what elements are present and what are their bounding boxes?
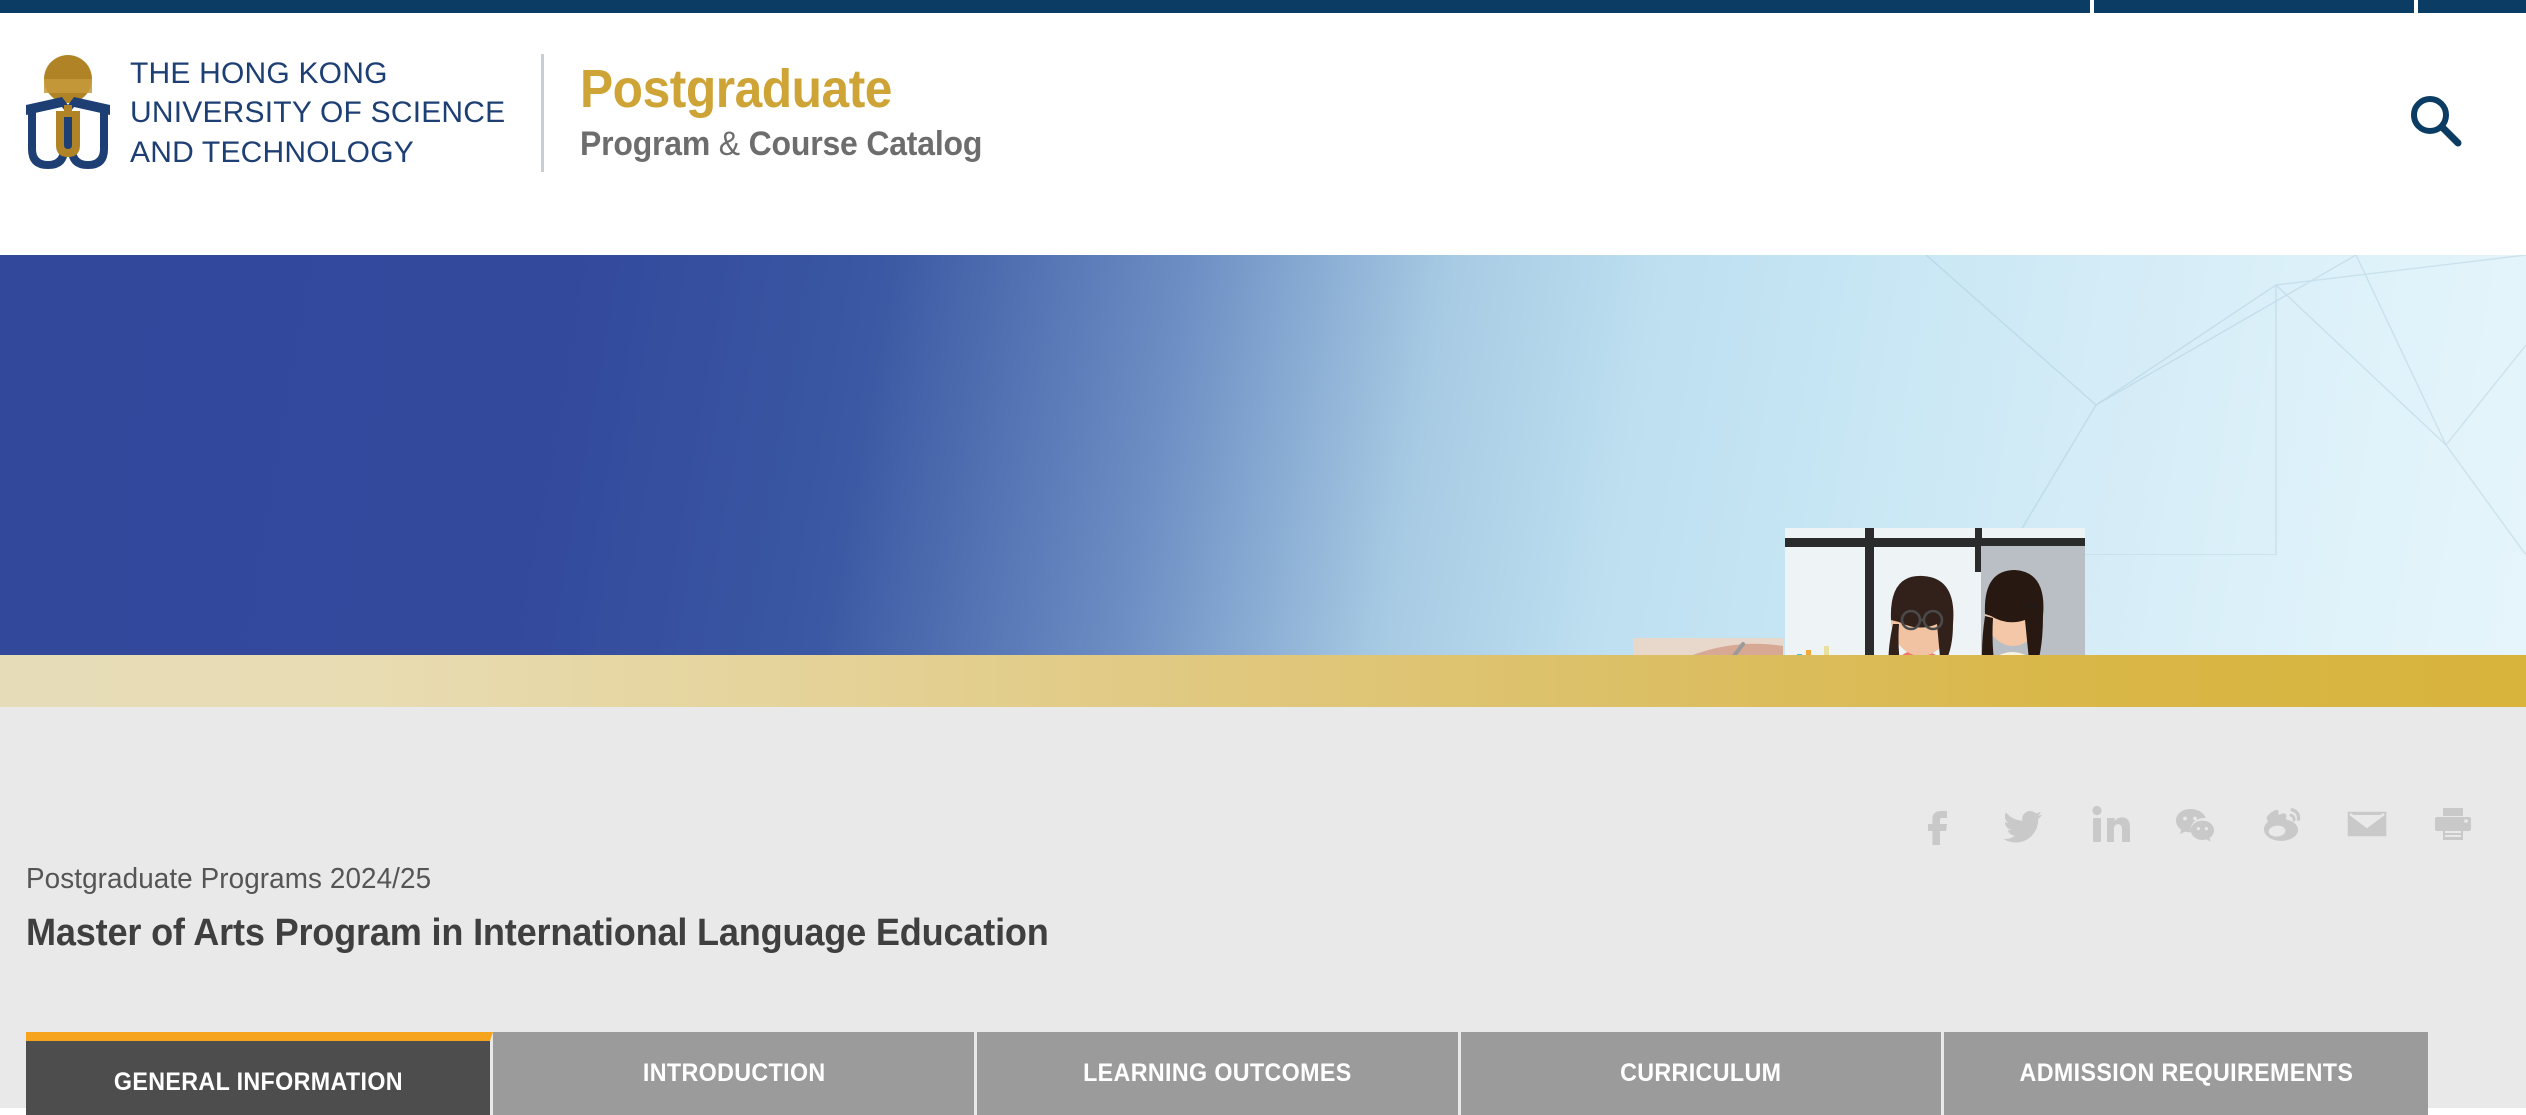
tab-introduction[interactable]: INTRODUCTION (493, 1032, 977, 1115)
page-title: Master of Arts Program in International … (26, 912, 1049, 955)
tab-label: GENERAL INFORMATION (114, 1068, 403, 1097)
gold-accent-bar (0, 655, 2526, 707)
catalog-subtitle-part-a: Program (580, 125, 719, 163)
facebook-icon[interactable] (1916, 803, 1958, 845)
breadcrumb: Postgraduate Programs 2024/25 (26, 863, 431, 896)
page-content: Postgraduate Programs 2024/25 Master of … (0, 707, 2526, 1108)
linkedin-icon[interactable] (2088, 803, 2130, 845)
twitter-icon[interactable] (2002, 803, 2044, 845)
tab-bar: GENERAL INFORMATIONINTRODUCTIONLEARNING … (26, 1032, 2428, 1115)
print-icon[interactable] (2432, 803, 2474, 845)
tab-learning-outcomes[interactable]: LEARNING OUTCOMES (977, 1032, 1461, 1115)
search-icon[interactable] (2406, 91, 2464, 149)
catalog-title-primary: Postgraduate (580, 61, 974, 118)
hero-banner: Programs Courses (0, 255, 2526, 655)
top-navy-bar (0, 0, 2526, 13)
weibo-icon[interactable] (2260, 803, 2302, 845)
university-name: THE HONG KONG UNIVERSITY OF SCIENCE AND … (130, 54, 505, 173)
tab-label: INTRODUCTION (642, 1059, 825, 1088)
site-header: THE HONG KONG UNIVERSITY OF SCIENCE AND … (0, 13, 2526, 255)
tab-general-information[interactable]: GENERAL INFORMATION (26, 1032, 493, 1115)
network-decoration (1886, 255, 2526, 555)
collage-photo-writing (1633, 638, 1783, 655)
catalog-title: Postgraduate Program & Course Catalog (580, 61, 1008, 164)
social-share-row (1916, 803, 2474, 845)
header-divider (541, 54, 544, 172)
catalog-subtitle-ampersand: & (719, 125, 740, 163)
wechat-icon[interactable] (2174, 803, 2216, 845)
topbar-separator (2414, 0, 2418, 13)
tab-curriculum[interactable]: CURRICULUM (1461, 1032, 1945, 1115)
collage-photo-two-students (1785, 528, 2085, 655)
tab-admission-requirements[interactable]: ADMISSION REQUIREMENTS (1944, 1032, 2428, 1115)
catalog-title-secondary: Program & Course Catalog (580, 124, 982, 165)
tab-label: LEARNING OUTCOMES (1083, 1059, 1352, 1088)
site-logo-block[interactable]: THE HONG KONG UNIVERSITY OF SCIENCE AND … (22, 53, 1008, 173)
hkust-crest-icon (22, 53, 114, 173)
email-icon[interactable] (2346, 803, 2388, 845)
tab-label: ADMISSION REQUIREMENTS (2019, 1059, 2353, 1088)
topbar-separator (2090, 0, 2094, 13)
tab-label: CURRICULUM (1620, 1059, 1781, 1088)
catalog-subtitle-part-b: Course Catalog (740, 125, 982, 163)
